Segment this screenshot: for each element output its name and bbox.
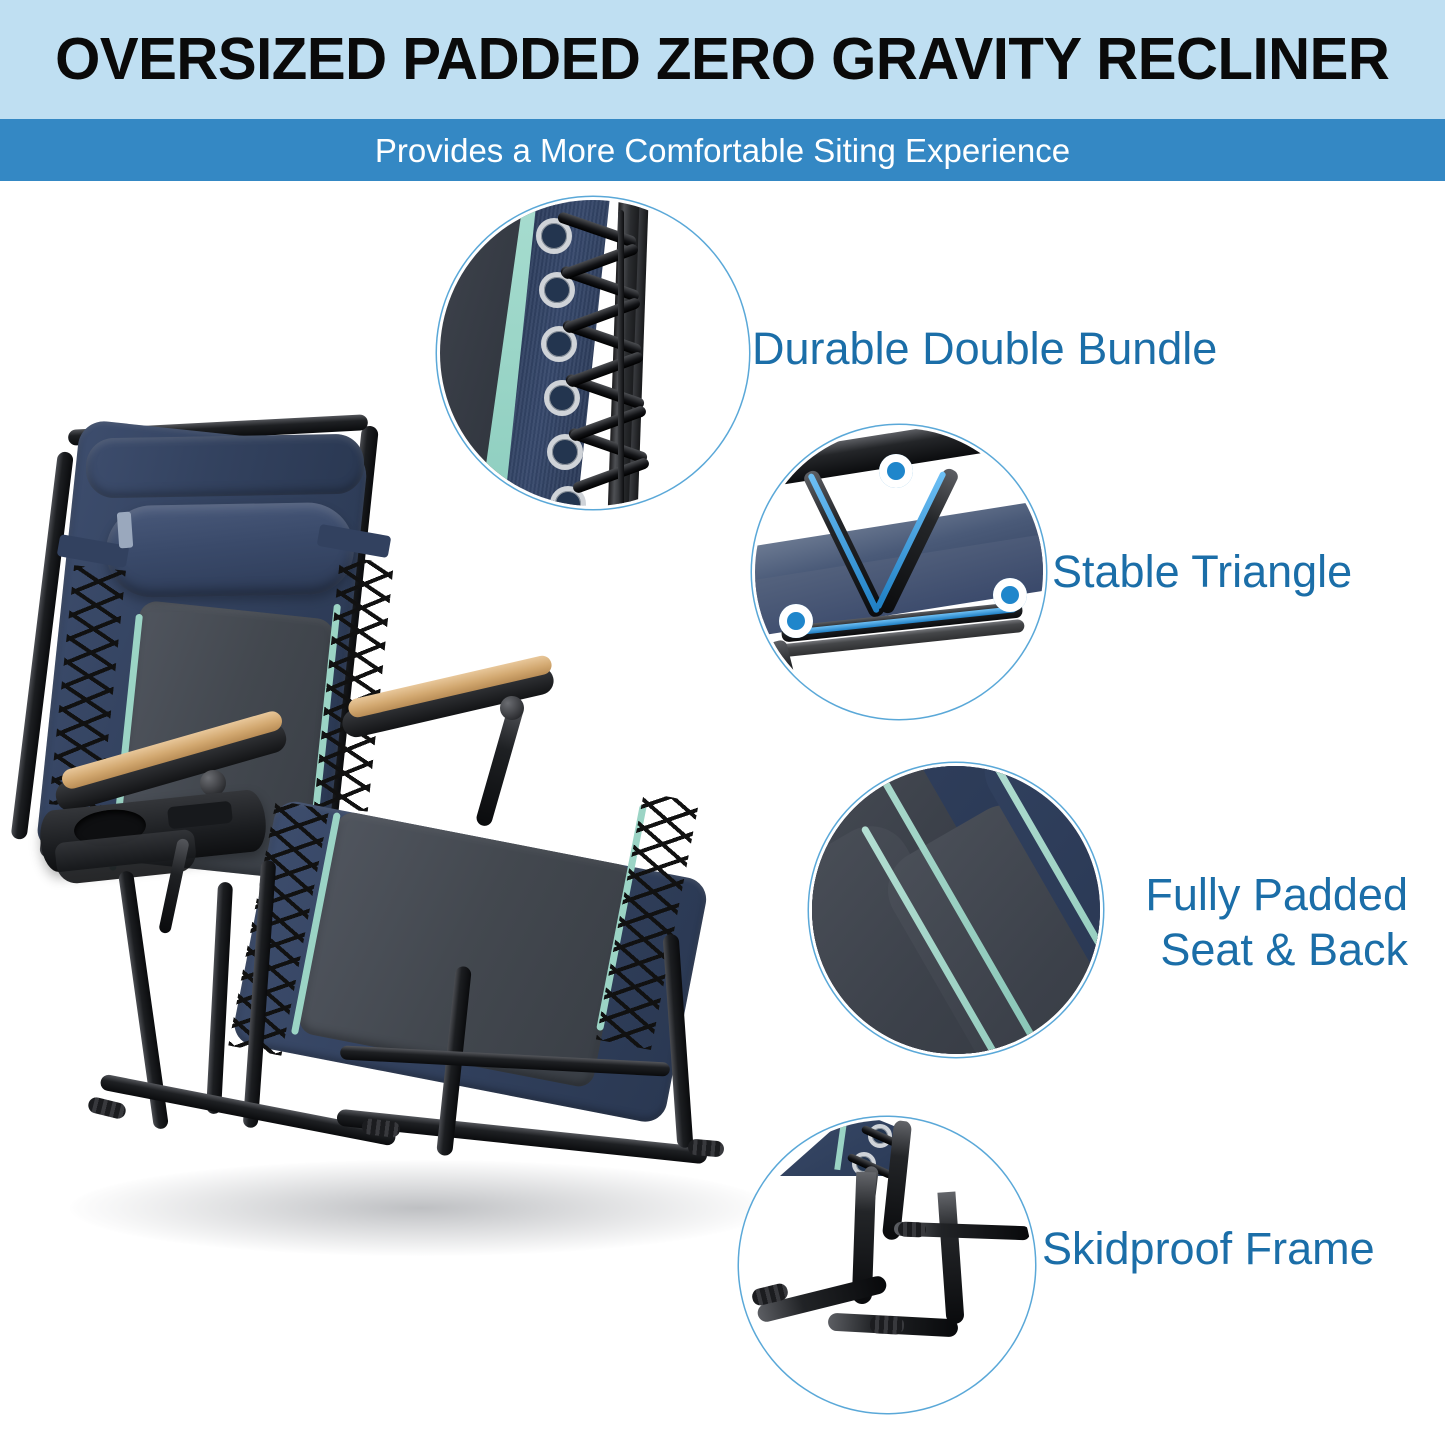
product-ground-shadow [70, 1160, 770, 1256]
feature-circle-fully-padded-seat-back [812, 766, 1100, 1054]
feature-photo-fully-padded-seat-back [812, 766, 1100, 1054]
header-subtitle-band: Provides a More Comfortable Siting Exper… [0, 119, 1445, 181]
feature-circle-skidproof-frame [742, 1120, 1032, 1410]
feature-label-durable-double-bundle: Durable Double Bundle [752, 322, 1217, 377]
product-image-zero-gravity-recliner [40, 400, 830, 1260]
page-title: OVERSIZED PADDED ZERO GRAVITY RECLINER [55, 30, 1389, 89]
feature-label-line-1: Fully Padded [1108, 868, 1408, 923]
feature-photo-durable-double-bundle [440, 200, 746, 506]
page-subtitle: Provides a More Comfortable Siting Exper… [375, 134, 1070, 167]
frame-mid-rail-left [206, 882, 233, 1114]
header-title-band: OVERSIZED PADDED ZERO GRAVITY RECLINER [0, 0, 1445, 119]
feature-circle-stable-triangle [755, 428, 1043, 716]
feature-label-fully-padded-seat-back: Fully Padded Seat & Back [1108, 868, 1408, 978]
feature-circle-durable-double-bundle [440, 200, 746, 506]
headrest-pillow [105, 502, 355, 598]
feature-photo-skidproof-frame [742, 1120, 1032, 1410]
feature-photo-stable-triangle [755, 428, 1043, 716]
armrest-right-support-tube [475, 700, 526, 827]
frame-foot-cap-left [87, 1096, 128, 1121]
infographic-page: OVERSIZED PADDED ZERO GRAVITY RECLINER P… [0, 0, 1445, 1445]
feature-label-skidproof-frame: Skidproof Frame [1042, 1222, 1375, 1277]
feature-label-line-2: Seat & Back [1108, 923, 1408, 978]
headrest-brand-tag [117, 512, 133, 549]
frame-foot-cap-right [687, 1138, 724, 1157]
armrest-pivot-knob-right [500, 696, 524, 720]
feature-label-stable-triangle: Stable Triangle [1052, 545, 1352, 600]
backrest-top-roll [85, 434, 364, 499]
